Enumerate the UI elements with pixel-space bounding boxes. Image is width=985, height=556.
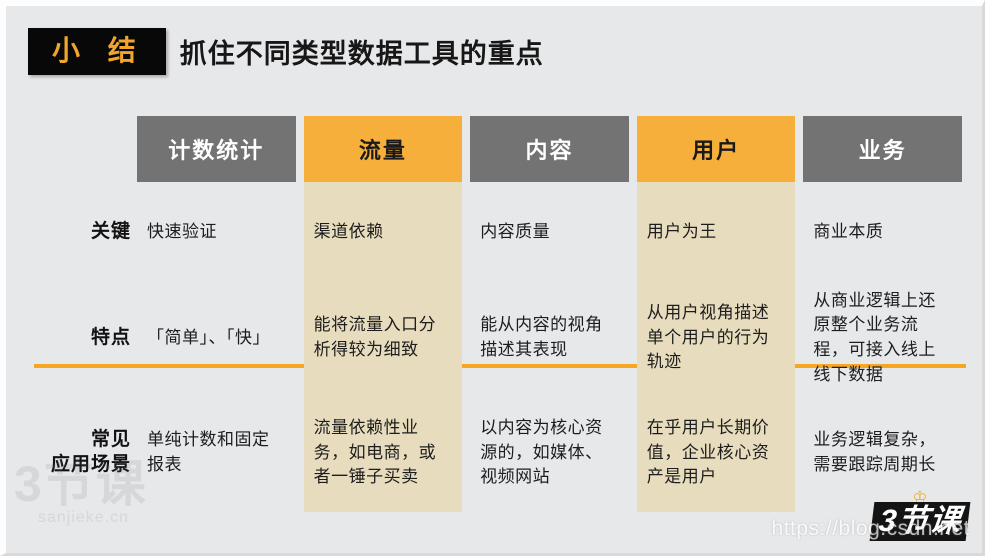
column-header-business[interactable]: 业务 — [803, 116, 962, 182]
table-header-row: 计数统计 流量 内容 用户 业务 — [34, 116, 966, 182]
cell-key-business: 商业本质 — [803, 182, 962, 282]
cell-text: 从用户视角描述单个用户的行为轨迹 — [647, 301, 786, 375]
cell-usecase-content: 以内容为核心资源的，如媒体、视频网站 — [470, 394, 629, 512]
section-badge: 小 结 — [28, 28, 166, 75]
cell-text: 在乎用户长期价值，企业核心资产是用户 — [647, 416, 786, 490]
column-header-label: 业务 — [859, 133, 907, 165]
column-header-label: 内容 — [525, 133, 573, 165]
row-label-key-wrap: 关键 — [34, 182, 133, 282]
cell-text: 从商业逻辑上还原整个业务流程，可接入线上线下数据 — [813, 289, 952, 388]
column-header-counting[interactable]: 计数统计 — [137, 116, 296, 182]
column-header-label: 计数统计 — [168, 133, 264, 165]
column-header-label: 用户 — [692, 133, 740, 165]
page-title: 抓住不同类型数据工具的重点 — [180, 32, 544, 71]
row-label-key: 关键 — [34, 182, 133, 282]
slide-header: 小 结 抓住不同类型数据工具的重点 — [28, 28, 544, 75]
cell-text: 商业本质 — [813, 220, 883, 245]
cell-key-traffic: 渠道依赖 — [304, 182, 463, 282]
row-label-feature: 特点 — [34, 282, 133, 394]
cell-feature-user: 从用户视角描述单个用户的行为轨迹 — [637, 282, 796, 394]
brand-logo: ♔ 3节课 — [872, 489, 968, 541]
brand-logo-text: 3节课 — [869, 502, 970, 541]
table-row-feature: 特点 「简单」、「快」 能将流量入口分析得较为细致 能从内容的视角描述其表现 从… — [34, 282, 966, 394]
cell-text: 渠道依赖 — [314, 220, 384, 245]
cell-feature-content: 能从内容的视角描述其表现 — [470, 282, 629, 394]
column-header-content[interactable]: 内容 — [470, 116, 629, 182]
comparison-table: 计数统计 流量 内容 用户 业务 关键 快速验证 渠道依赖 — [34, 116, 966, 512]
cell-text: 快速验证 — [147, 220, 217, 245]
cell-usecase-counting: 单纯计数和固定报表 — [137, 394, 296, 512]
cell-text: 能将流量入口分析得较为细致 — [314, 313, 453, 362]
cell-text: 业务逻辑复杂，需要跟踪周期长 — [813, 428, 952, 477]
table-row-key: 关键 快速验证 渠道依赖 内容质量 用户为王 商业本质 — [34, 182, 966, 282]
cell-text: 以内容为核心资源的，如媒体、视频网站 — [480, 416, 619, 490]
cell-feature-business: 从商业逻辑上还原整个业务流程，可接入线上线下数据 — [803, 282, 962, 394]
row-label-feature-wrap: 特点 — [34, 282, 133, 394]
cell-feature-traffic: 能将流量入口分析得较为细致 — [304, 282, 463, 394]
cell-text: 「简单」、「快」 — [147, 326, 270, 351]
cell-text: 能从内容的视角描述其表现 — [480, 313, 619, 362]
column-header-label: 流量 — [359, 133, 407, 165]
cell-usecase-user: 在乎用户长期价值，企业核心资产是用户 — [637, 394, 796, 512]
cell-text: 单纯计数和固定报表 — [147, 428, 286, 477]
header-corner-spacer — [34, 116, 133, 182]
slide-canvas: 小 结 抓住不同类型数据工具的重点 计数统计 流量 内容 用户 业务 — [0, 0, 985, 556]
row-label-usecase-wrap: 常见应用场景 — [34, 394, 133, 512]
cell-key-counting: 快速验证 — [137, 182, 296, 282]
column-header-traffic[interactable]: 流量 — [304, 116, 463, 182]
cell-key-user: 用户为王 — [637, 182, 796, 282]
cell-text: 内容质量 — [480, 220, 550, 245]
cell-feature-counting: 「简单」、「快」 — [137, 282, 296, 394]
column-header-user[interactable]: 用户 — [637, 116, 796, 182]
table-row-usecase: 常见应用场景 单纯计数和固定报表 流量依赖性业务，如电商，或者一锤子买卖 以内容… — [34, 394, 966, 512]
cell-text: 用户为王 — [647, 220, 717, 245]
cell-key-content: 内容质量 — [470, 182, 629, 282]
cell-usecase-traffic: 流量依赖性业务，如电商，或者一锤子买卖 — [304, 394, 463, 512]
cell-text: 流量依赖性业务，如电商，或者一锤子买卖 — [314, 416, 453, 490]
row-label-usecase: 常见应用场景 — [34, 394, 133, 512]
